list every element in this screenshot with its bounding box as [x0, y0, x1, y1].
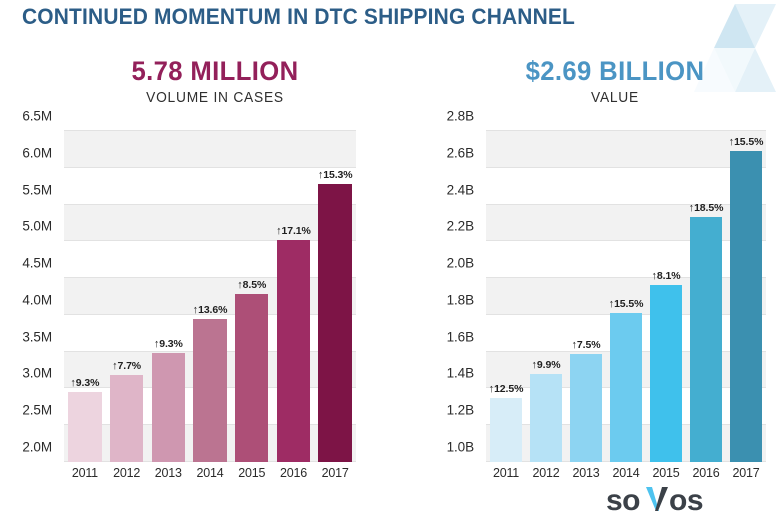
growth-label: ↑9.3% — [154, 338, 183, 350]
x-tick-label: 2015 — [646, 466, 686, 480]
x-tick-label: 2014 — [189, 466, 231, 480]
bar-column[interactable]: ↑8.1% — [646, 131, 686, 462]
plot-area: ↑9.3%↑7.7%↑9.3%↑13.6%↑8.5%↑17.1%↑15.3% — [64, 131, 356, 462]
bar[interactable]: ↑12.5% — [490, 398, 522, 462]
bar[interactable]: ↑8.1% — [650, 285, 682, 462]
x-tick-label: 2011 — [486, 466, 526, 480]
bar[interactable]: ↑15.5% — [730, 151, 762, 462]
bar-column[interactable]: ↑7.7% — [106, 131, 148, 462]
x-axis-labels: 2011201220132014201520162017 — [64, 466, 356, 480]
x-tick-label: 2016 — [686, 466, 726, 480]
x-tick-label: 2013 — [566, 466, 606, 480]
infographic-root: CONTINUED MOMENTUM IN DTC SHIPPING CHANN… — [0, 0, 780, 530]
x-tick-label: 2016 — [273, 466, 315, 480]
up-arrow-icon: ↑ — [652, 270, 657, 282]
y-tick-label: 1.8B — [447, 292, 474, 307]
y-tick-label: 6.5M — [22, 109, 52, 124]
stat-volume: 5.78 MILLION VOLUME IN CASES — [50, 56, 380, 106]
x-tick-label: 2017 — [314, 466, 356, 480]
y-tick-label: 1.2B — [447, 403, 474, 418]
x-tick-label: 2015 — [231, 466, 273, 480]
x-axis-labels: 2011201220132014201520162017 — [486, 466, 766, 480]
x-tick-label: 2012 — [526, 466, 566, 480]
up-arrow-icon: ↑ — [70, 377, 75, 389]
y-tick-label: 4.5M — [22, 256, 52, 271]
up-arrow-icon: ↑ — [532, 359, 537, 371]
y-tick-label: 2.0B — [447, 256, 474, 271]
bar[interactable]: ↑7.7% — [110, 375, 143, 462]
stat-volume-value: 5.78 MILLION — [58, 56, 372, 87]
bar-column[interactable]: ↑8.5% — [231, 131, 273, 462]
up-arrow-icon: ↑ — [318, 169, 323, 181]
growth-label: ↑13.6% — [193, 304, 228, 316]
stat-volume-label: VOLUME IN CASES — [58, 90, 372, 106]
bar[interactable]: ↑15.3% — [318, 184, 351, 462]
y-tick-label: 2.8B — [447, 109, 474, 124]
y-tick-label: 2.0M — [22, 440, 52, 455]
growth-label: ↑9.9% — [532, 359, 561, 371]
sovos-wordmark-icon: so os — [606, 483, 756, 519]
y-tick-label: 1.4B — [447, 366, 474, 381]
growth-label: ↑15.5% — [609, 298, 644, 310]
chart-value: 1.0B1.2B1.4B1.6B1.8B2.0B2.2B2.4B2.6B2.8B… — [428, 124, 776, 480]
up-arrow-icon: ↑ — [729, 136, 734, 148]
y-tick-label: 2.5M — [22, 403, 52, 418]
y-axis-labels: 2.0M2.5M3.0M3.5M4.0M4.5M5.0M5.5M6.0M6.5M — [8, 131, 60, 462]
stat-value-value: $2.69 BILLION — [458, 56, 772, 87]
chart-volume: 2.0M2.5M3.0M3.5M4.0M4.5M5.0M5.5M6.0M6.5M… — [8, 124, 376, 480]
y-tick-label: 6.0M — [22, 145, 52, 160]
bar[interactable]: ↑17.1% — [277, 240, 310, 462]
bar[interactable]: ↑7.5% — [570, 354, 602, 462]
up-arrow-icon: ↑ — [609, 298, 614, 310]
bar[interactable]: ↑15.5% — [610, 313, 642, 462]
bar-column[interactable]: ↑13.6% — [189, 131, 231, 462]
up-arrow-icon: ↑ — [572, 339, 577, 351]
sovos-logo: so os — [606, 484, 756, 518]
up-arrow-icon: ↑ — [689, 202, 694, 214]
y-tick-label: 3.0M — [22, 366, 52, 381]
growth-label: ↑15.3% — [318, 169, 353, 181]
y-tick-label: 5.0M — [22, 219, 52, 234]
growth-label: ↑9.3% — [70, 377, 99, 389]
y-tick-label: 3.5M — [22, 329, 52, 344]
x-tick-label: 2013 — [147, 466, 189, 480]
bar-column[interactable]: ↑18.5% — [686, 131, 726, 462]
bar-column[interactable]: ↑15.3% — [314, 131, 356, 462]
x-tick-label: 2017 — [726, 466, 766, 480]
stat-value: $2.69 BILLION VALUE — [450, 56, 780, 106]
y-tick-label: 2.6B — [447, 145, 474, 160]
growth-label: ↑7.5% — [572, 339, 601, 351]
growth-label: ↑15.5% — [729, 136, 764, 148]
y-tick-label: 5.5M — [22, 182, 52, 197]
x-tick-label: 2011 — [64, 466, 106, 480]
svg-text:so: so — [606, 484, 640, 517]
up-arrow-icon: ↑ — [237, 279, 242, 291]
up-arrow-icon: ↑ — [489, 383, 494, 395]
growth-label: ↑12.5% — [489, 383, 524, 395]
bar-column[interactable]: ↑15.5% — [606, 131, 646, 462]
growth-label: ↑7.7% — [112, 360, 141, 372]
growth-label: ↑8.1% — [652, 270, 681, 282]
bar[interactable]: ↑8.5% — [235, 294, 268, 462]
bar-column[interactable]: ↑9.3% — [64, 131, 106, 462]
bar-column[interactable]: ↑7.5% — [566, 131, 606, 462]
bar[interactable]: ↑9.9% — [530, 374, 562, 462]
up-arrow-icon: ↑ — [276, 225, 281, 237]
y-tick-label: 4.0M — [22, 292, 52, 307]
svg-text:os: os — [669, 484, 703, 517]
growth-label: ↑17.1% — [276, 225, 311, 237]
bar[interactable]: ↑9.3% — [68, 392, 101, 462]
up-arrow-icon: ↑ — [154, 338, 159, 350]
stat-value-label: VALUE — [458, 90, 772, 106]
up-arrow-icon: ↑ — [112, 360, 117, 372]
y-tick-label: 2.4B — [447, 182, 474, 197]
y-axis-labels: 1.0B1.2B1.4B1.6B1.8B2.0B2.2B2.4B2.6B2.8B — [428, 131, 482, 462]
x-tick-label: 2014 — [606, 466, 646, 480]
bar-column[interactable]: ↑12.5% — [486, 131, 526, 462]
bar-series: ↑12.5%↑9.9%↑7.5%↑15.5%↑8.1%↑18.5%↑15.5% — [486, 131, 766, 462]
up-arrow-icon: ↑ — [193, 304, 198, 316]
bar[interactable]: ↑13.6% — [193, 319, 226, 462]
growth-label: ↑18.5% — [689, 202, 724, 214]
bar-column[interactable]: ↑9.3% — [147, 131, 189, 462]
y-tick-label: 1.6B — [447, 329, 474, 344]
page-title: CONTINUED MOMENTUM IN DTC SHIPPING CHANN… — [22, 4, 575, 30]
bar[interactable]: ↑18.5% — [690, 217, 722, 462]
bar-series: ↑9.3%↑7.7%↑9.3%↑13.6%↑8.5%↑17.1%↑15.3% — [64, 131, 356, 462]
bar-column[interactable]: ↑15.5% — [726, 131, 766, 462]
growth-label: ↑8.5% — [237, 279, 266, 291]
bar-column[interactable]: ↑9.9% — [526, 131, 566, 462]
bar-column[interactable]: ↑17.1% — [273, 131, 315, 462]
y-tick-label: 2.2B — [447, 219, 474, 234]
plot-area: ↑12.5%↑9.9%↑7.5%↑15.5%↑8.1%↑18.5%↑15.5% — [486, 131, 766, 462]
bar[interactable]: ↑9.3% — [152, 353, 185, 462]
y-tick-label: 1.0B — [447, 440, 474, 455]
x-tick-label: 2012 — [106, 466, 148, 480]
